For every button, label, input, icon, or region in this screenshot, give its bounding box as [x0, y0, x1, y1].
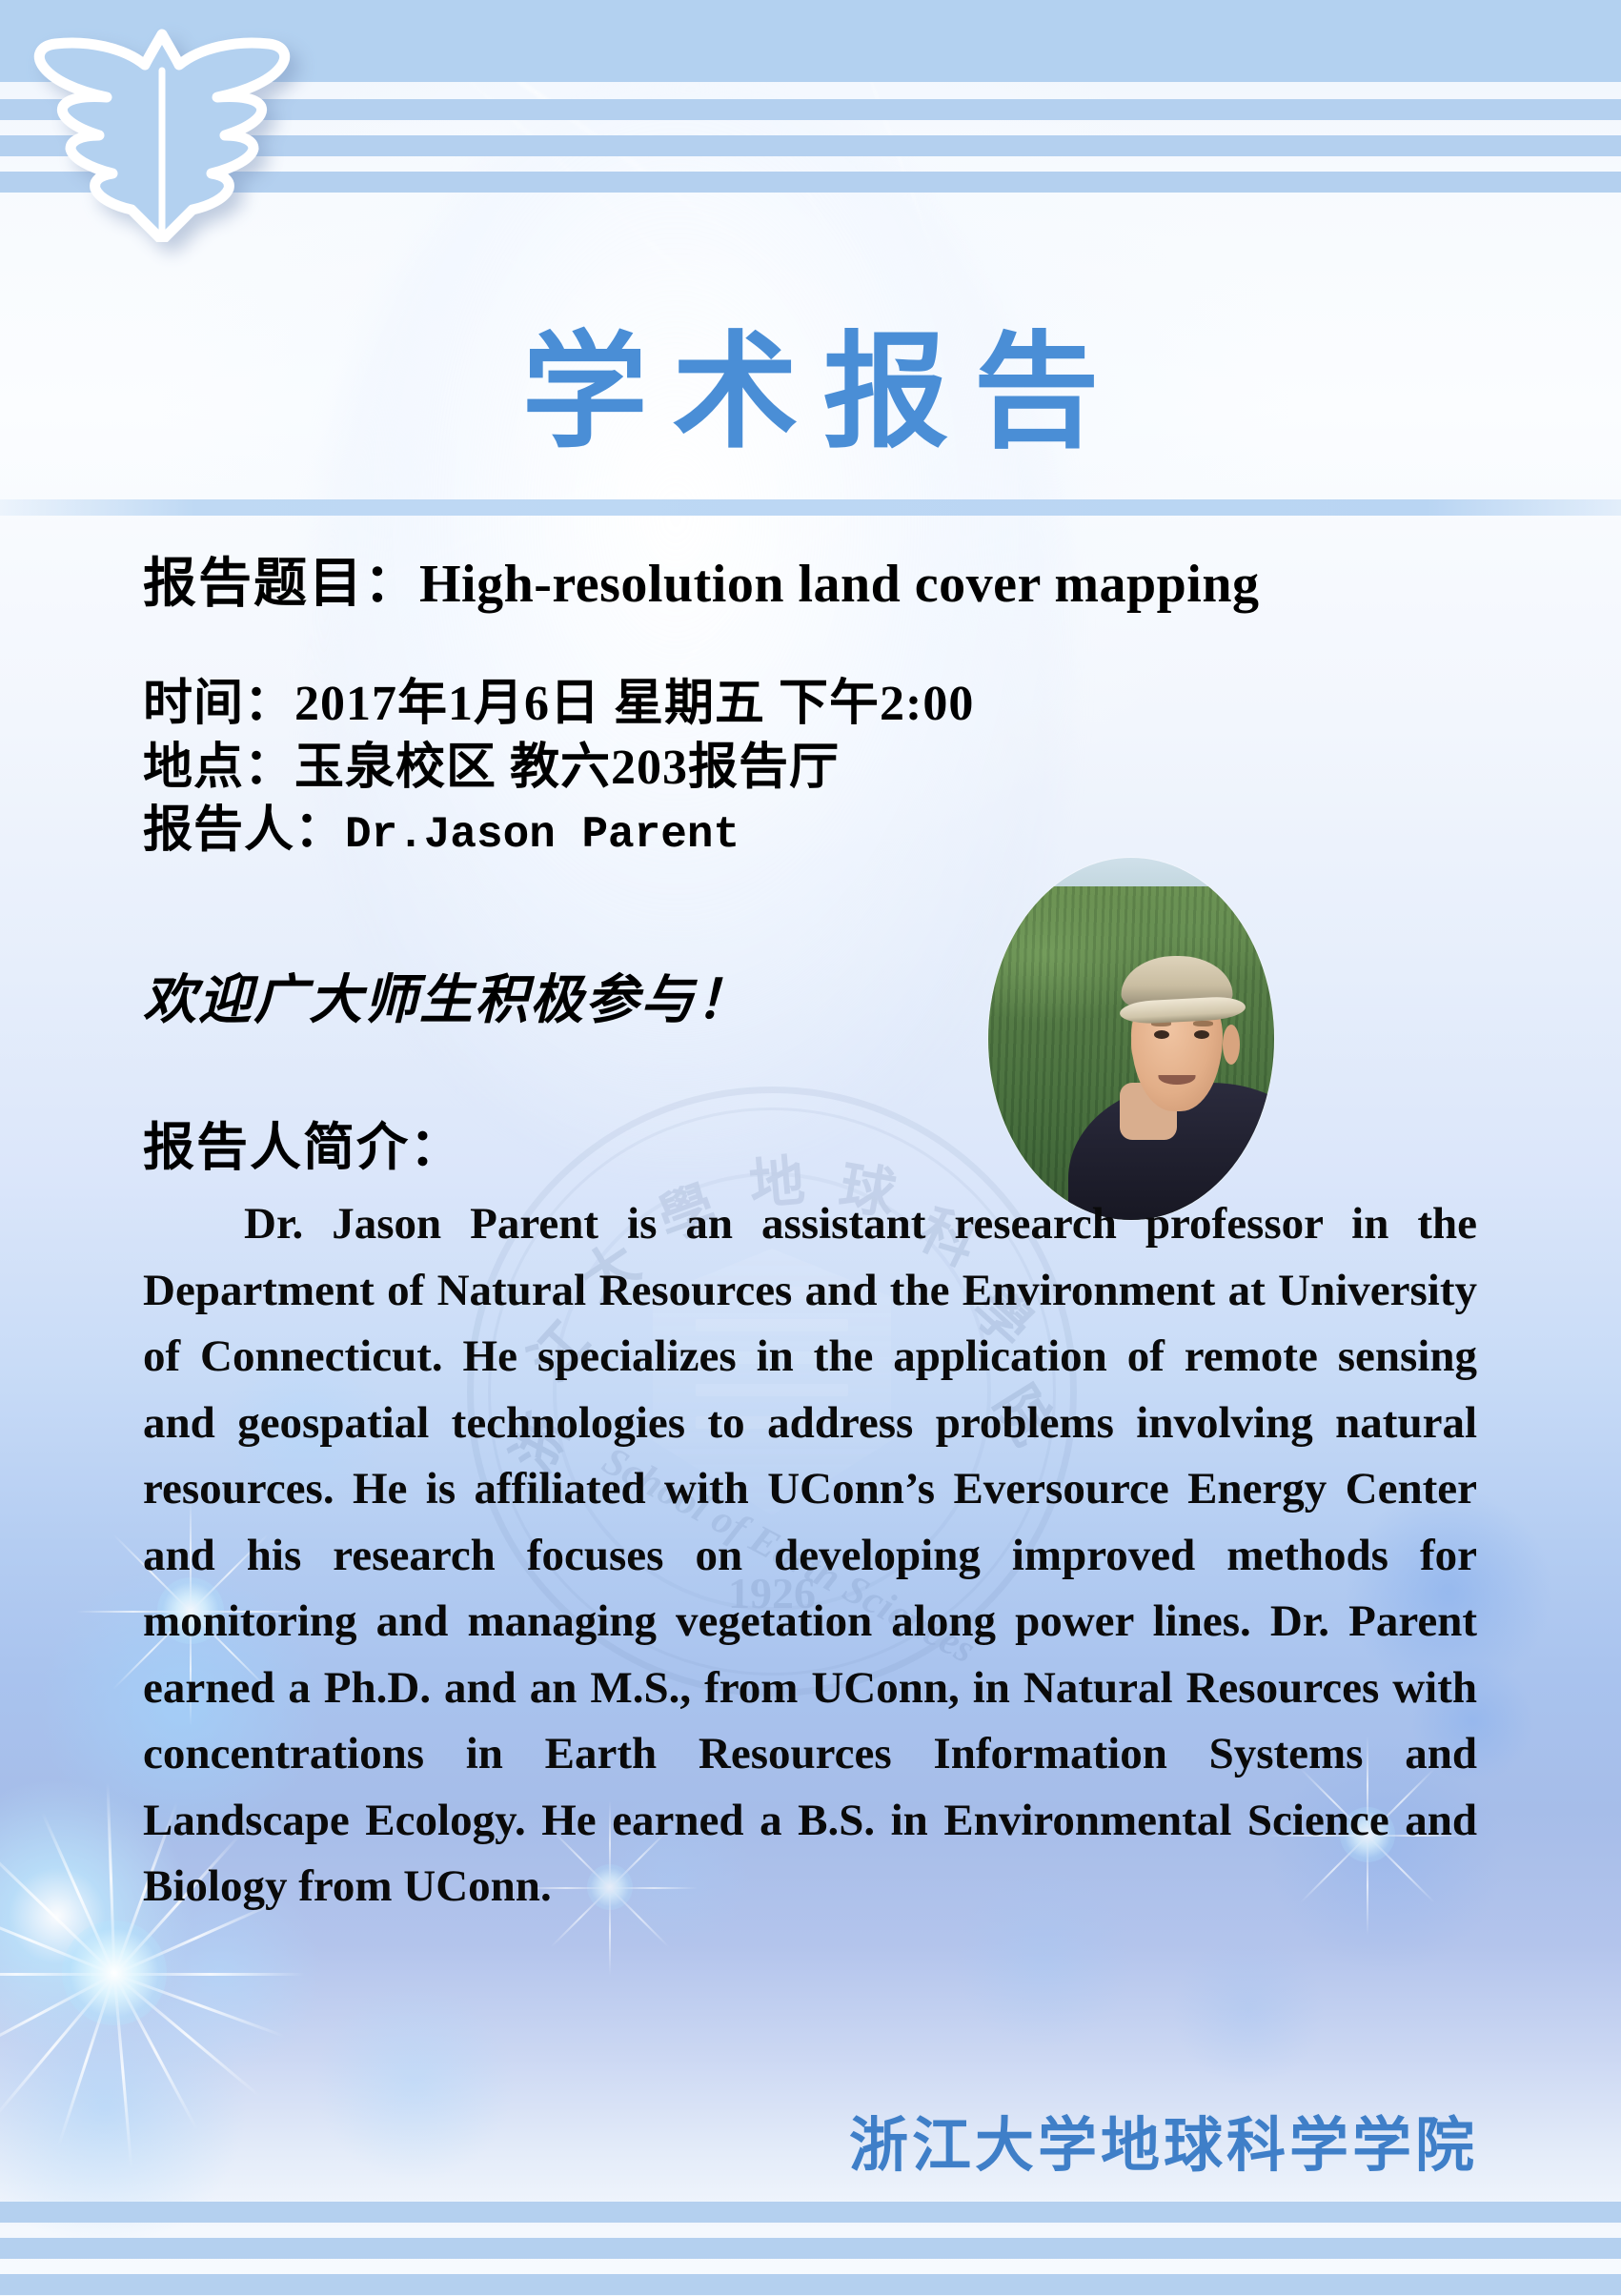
- footer-organization: 浙江大学地球科学学院: [849, 2097, 1478, 2183]
- meta-time-label: 时间：: [143, 677, 294, 731]
- content-area: 报告题目：High-resolution land cover mapping …: [143, 551, 1477, 1920]
- meta-time-value: 2017年1月6日 星期五 下午2:00: [294, 677, 974, 731]
- meta-time: 时间：2017年1月6日 星期五 下午2:00: [143, 673, 1477, 737]
- meta-location-value: 玉泉校区 教六203报告厅: [294, 741, 840, 795]
- topic-line: 报告题目：High-resolution land cover mapping: [143, 551, 1477, 618]
- winged-leaf-emblem-icon: [19, 13, 305, 242]
- meta-speaker-label: 报告人：: [143, 803, 345, 858]
- topic-label: 报告题目：: [143, 555, 419, 614]
- footer-stripe-1: [0, 2202, 1621, 2223]
- footer-stripe-3: [0, 2274, 1621, 2295]
- meta-speaker-value: Dr.Jason Parent: [345, 810, 740, 860]
- meta-speaker: 报告人：Dr.Jason Parent: [143, 800, 1477, 864]
- page-title: 学术报告: [0, 316, 1621, 470]
- meta-location: 地点：玉泉校区 教六203报告厅: [143, 737, 1477, 801]
- title-divider: [0, 499, 1621, 516]
- poster-root: 浙 江 大 學 地 球 科 學 院 School of Earth Scienc…: [0, 0, 1621, 2296]
- bio-body: Dr. Jason Parent is an assistant researc…: [143, 1191, 1477, 1920]
- event-meta: 时间：2017年1月6日 星期五 下午2:00 地点：玉泉校区 教六203报告厅…: [143, 673, 1477, 864]
- meta-location-label: 地点：: [143, 741, 294, 795]
- bio-heading: 报告人简介：: [143, 1105, 1477, 1180]
- topic-value: High-resolution land cover mapping: [419, 555, 1260, 614]
- welcome-note: 欢迎广大师生积极参与！: [143, 957, 1477, 1034]
- footer-stripe-2: [0, 2238, 1621, 2259]
